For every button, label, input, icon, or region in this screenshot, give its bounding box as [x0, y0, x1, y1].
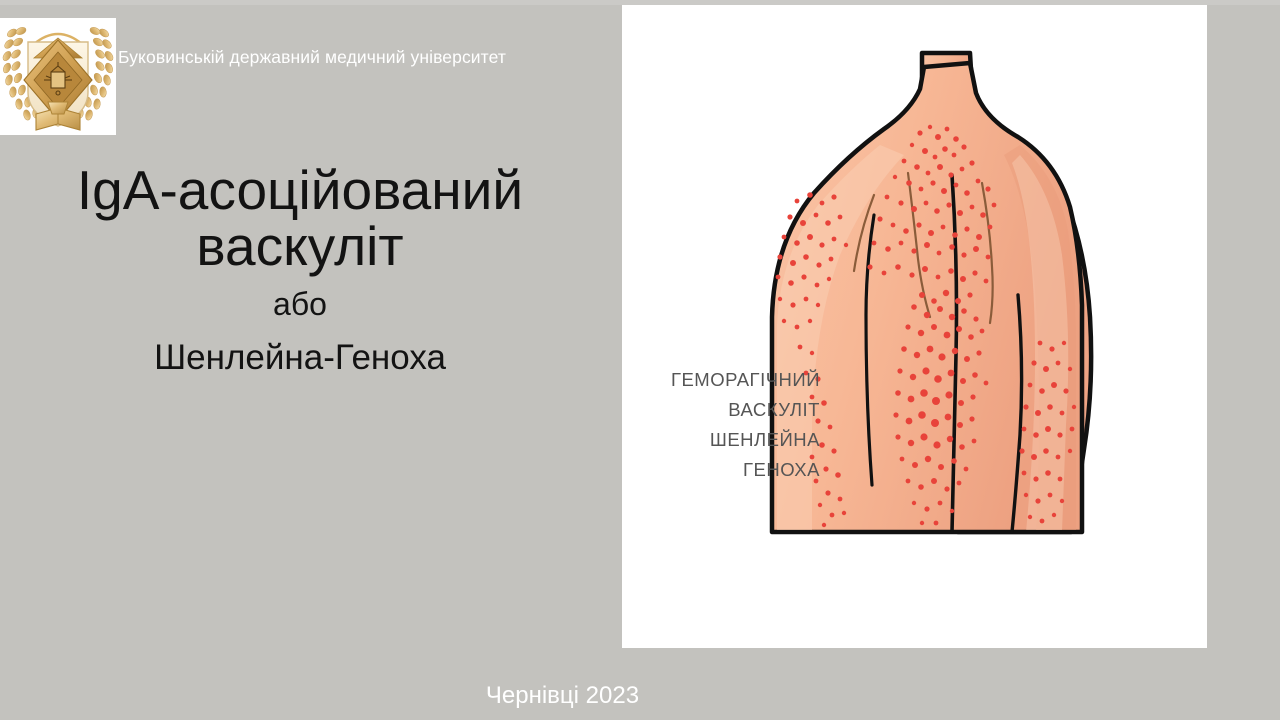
footer-place-year: Чернівці 2023	[0, 682, 1125, 710]
title-block: IgA-асоційований васкуліт або Шенлейна-Г…	[0, 162, 600, 380]
page-title: IgA-асоційований васкуліт	[0, 162, 600, 274]
organization-name: Буковинській державний медичний універси…	[118, 47, 506, 68]
title-line-2: васкуліт	[196, 215, 403, 277]
illustration-panel: ГЕМОРАГІЧНИЙ ВАСКУЛІТ ШЕНЛЕЙНА ГЕНОХА	[622, 5, 1207, 648]
coat-of-arms-icon	[0, 18, 116, 135]
title-line-1: IgA-асоційований	[77, 159, 523, 221]
title-connector: або	[0, 284, 600, 324]
university-logo	[0, 18, 116, 135]
title-eponym: Шенлейна-Геноха	[0, 336, 600, 380]
presentation-slide: Буковинській державний медичний універси…	[0, 0, 1280, 720]
purpura-back-illustration	[622, 5, 1207, 648]
